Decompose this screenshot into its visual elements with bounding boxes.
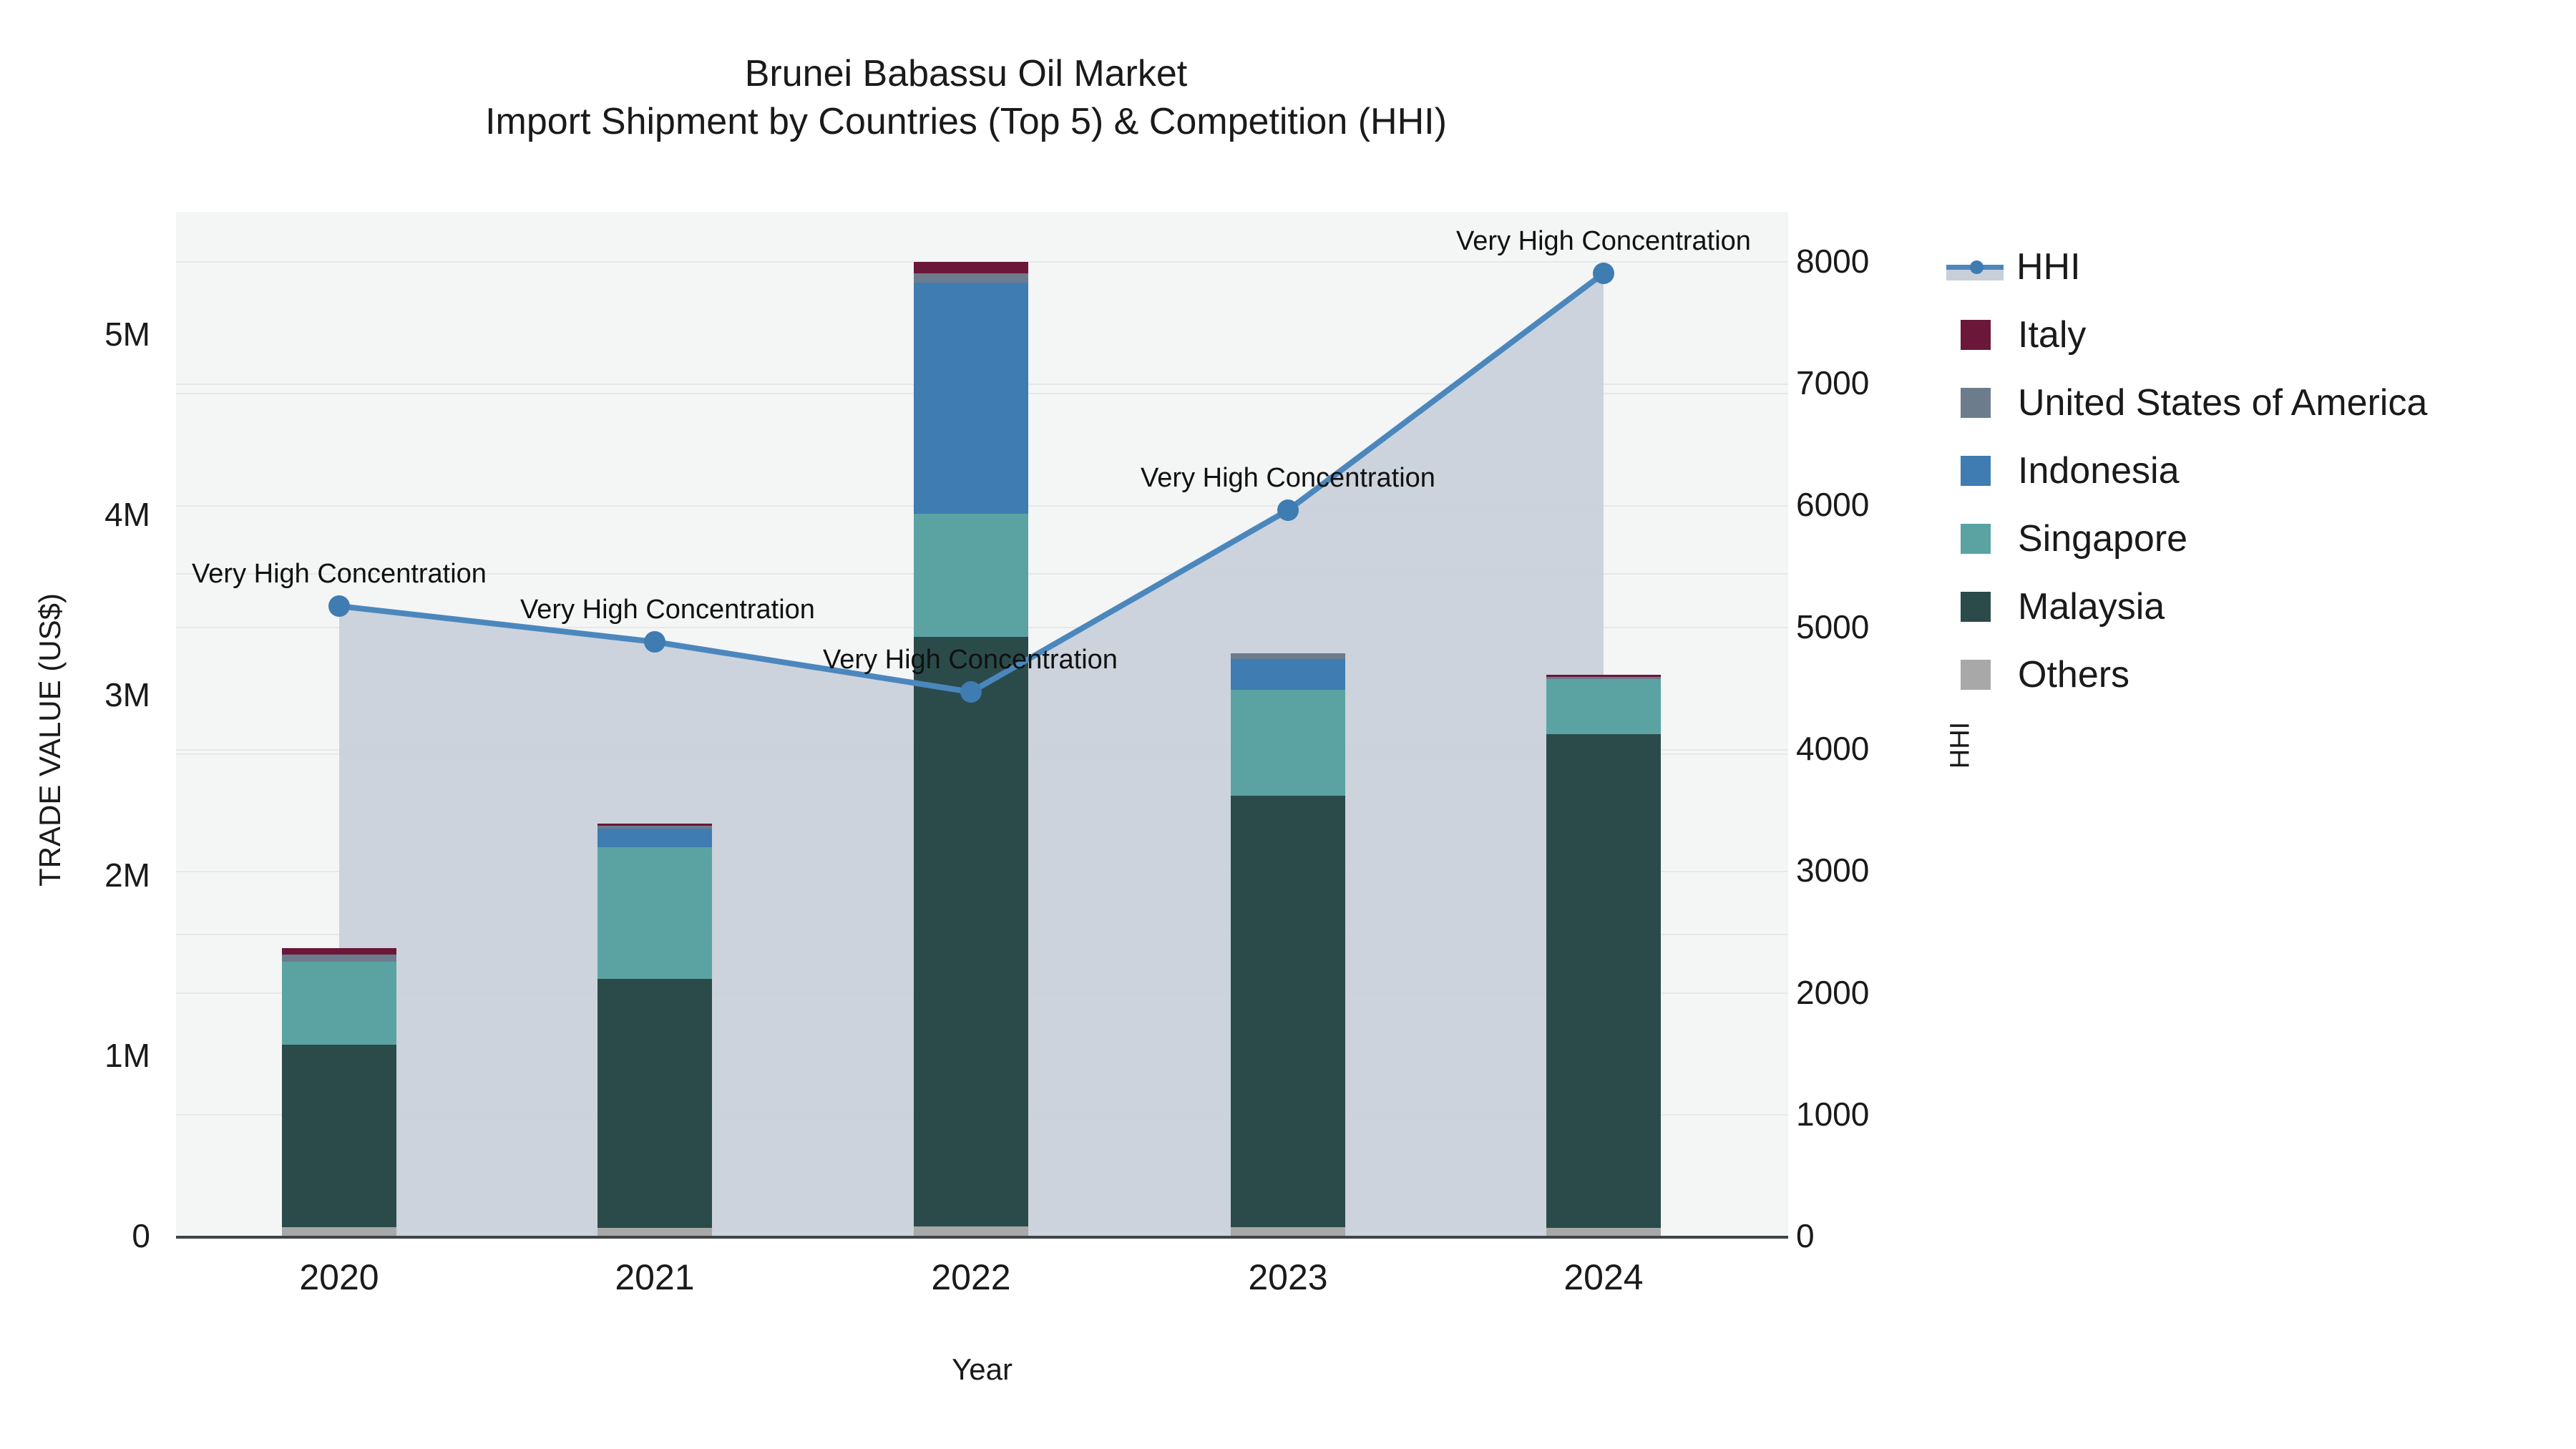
y-axis-left-title: TRADE VALUE (US$)	[33, 525, 67, 955]
swatch-italy-icon	[1961, 320, 1991, 350]
legend-label-hhi: HHI	[2016, 245, 2081, 288]
legend-label-singapore: Singapore	[2018, 517, 2187, 560]
swatch-indonesia-icon	[1961, 456, 1991, 486]
legend-item-singapore[interactable]: Singapore	[1946, 504, 2427, 572]
legend-label-united-states-of-america: United States of America	[2018, 381, 2427, 424]
xtick-2023: 2023	[1181, 1257, 1395, 1298]
x-axis-title: Year	[176, 1352, 1788, 1387]
swatch-united-states-of-america-icon	[1961, 388, 1991, 418]
x-axis-baseline	[176, 1236, 1788, 1239]
legend-item-italy[interactable]: Italy	[1946, 301, 2427, 369]
legend-item-hhi[interactable]: HHI	[1946, 233, 2427, 301]
chart-root: Brunei Babassu Oil Market Import Shipmen…	[0, 0, 2576, 1449]
legend-label-others: Others	[2018, 653, 2129, 696]
legend: HHI Italy United States of America Indon…	[1946, 233, 2427, 708]
hhi-line-icon	[1946, 252, 2004, 282]
legend-label-italy: Italy	[2018, 313, 2086, 356]
xtick-2024: 2024	[1496, 1257, 1711, 1298]
swatch-others-icon	[1961, 660, 1991, 690]
ytick-right-0: 0	[1796, 1216, 1982, 1255]
ytick-right-1000: 1000	[1796, 1095, 1982, 1133]
xtick-2020: 2020	[232, 1257, 447, 1298]
xtick-2022: 2022	[864, 1257, 1078, 1298]
swatch-singapore-icon	[1961, 524, 1991, 554]
ytick-right-3000: 3000	[1796, 851, 1982, 889]
legend-item-others[interactable]: Others	[1946, 640, 2427, 708]
legend-item-indonesia[interactable]: Indonesia	[1946, 436, 2427, 504]
xtick-2021: 2021	[547, 1257, 762, 1298]
swatch-malaysia-icon	[1961, 592, 1991, 622]
ytick-right-2000: 2000	[1796, 973, 1982, 1012]
legend-item-malaysia[interactable]: Malaysia	[1946, 572, 2427, 640]
legend-label-indonesia: Indonesia	[2018, 449, 2180, 492]
legend-item-united-states-of-america[interactable]: United States of America	[1946, 369, 2427, 436]
y-axis-right: 0 1000 2000 3000 4000 5000 6000 7000 800…	[0, 0, 2576, 1449]
legend-label-malaysia: Malaysia	[2018, 585, 2165, 628]
